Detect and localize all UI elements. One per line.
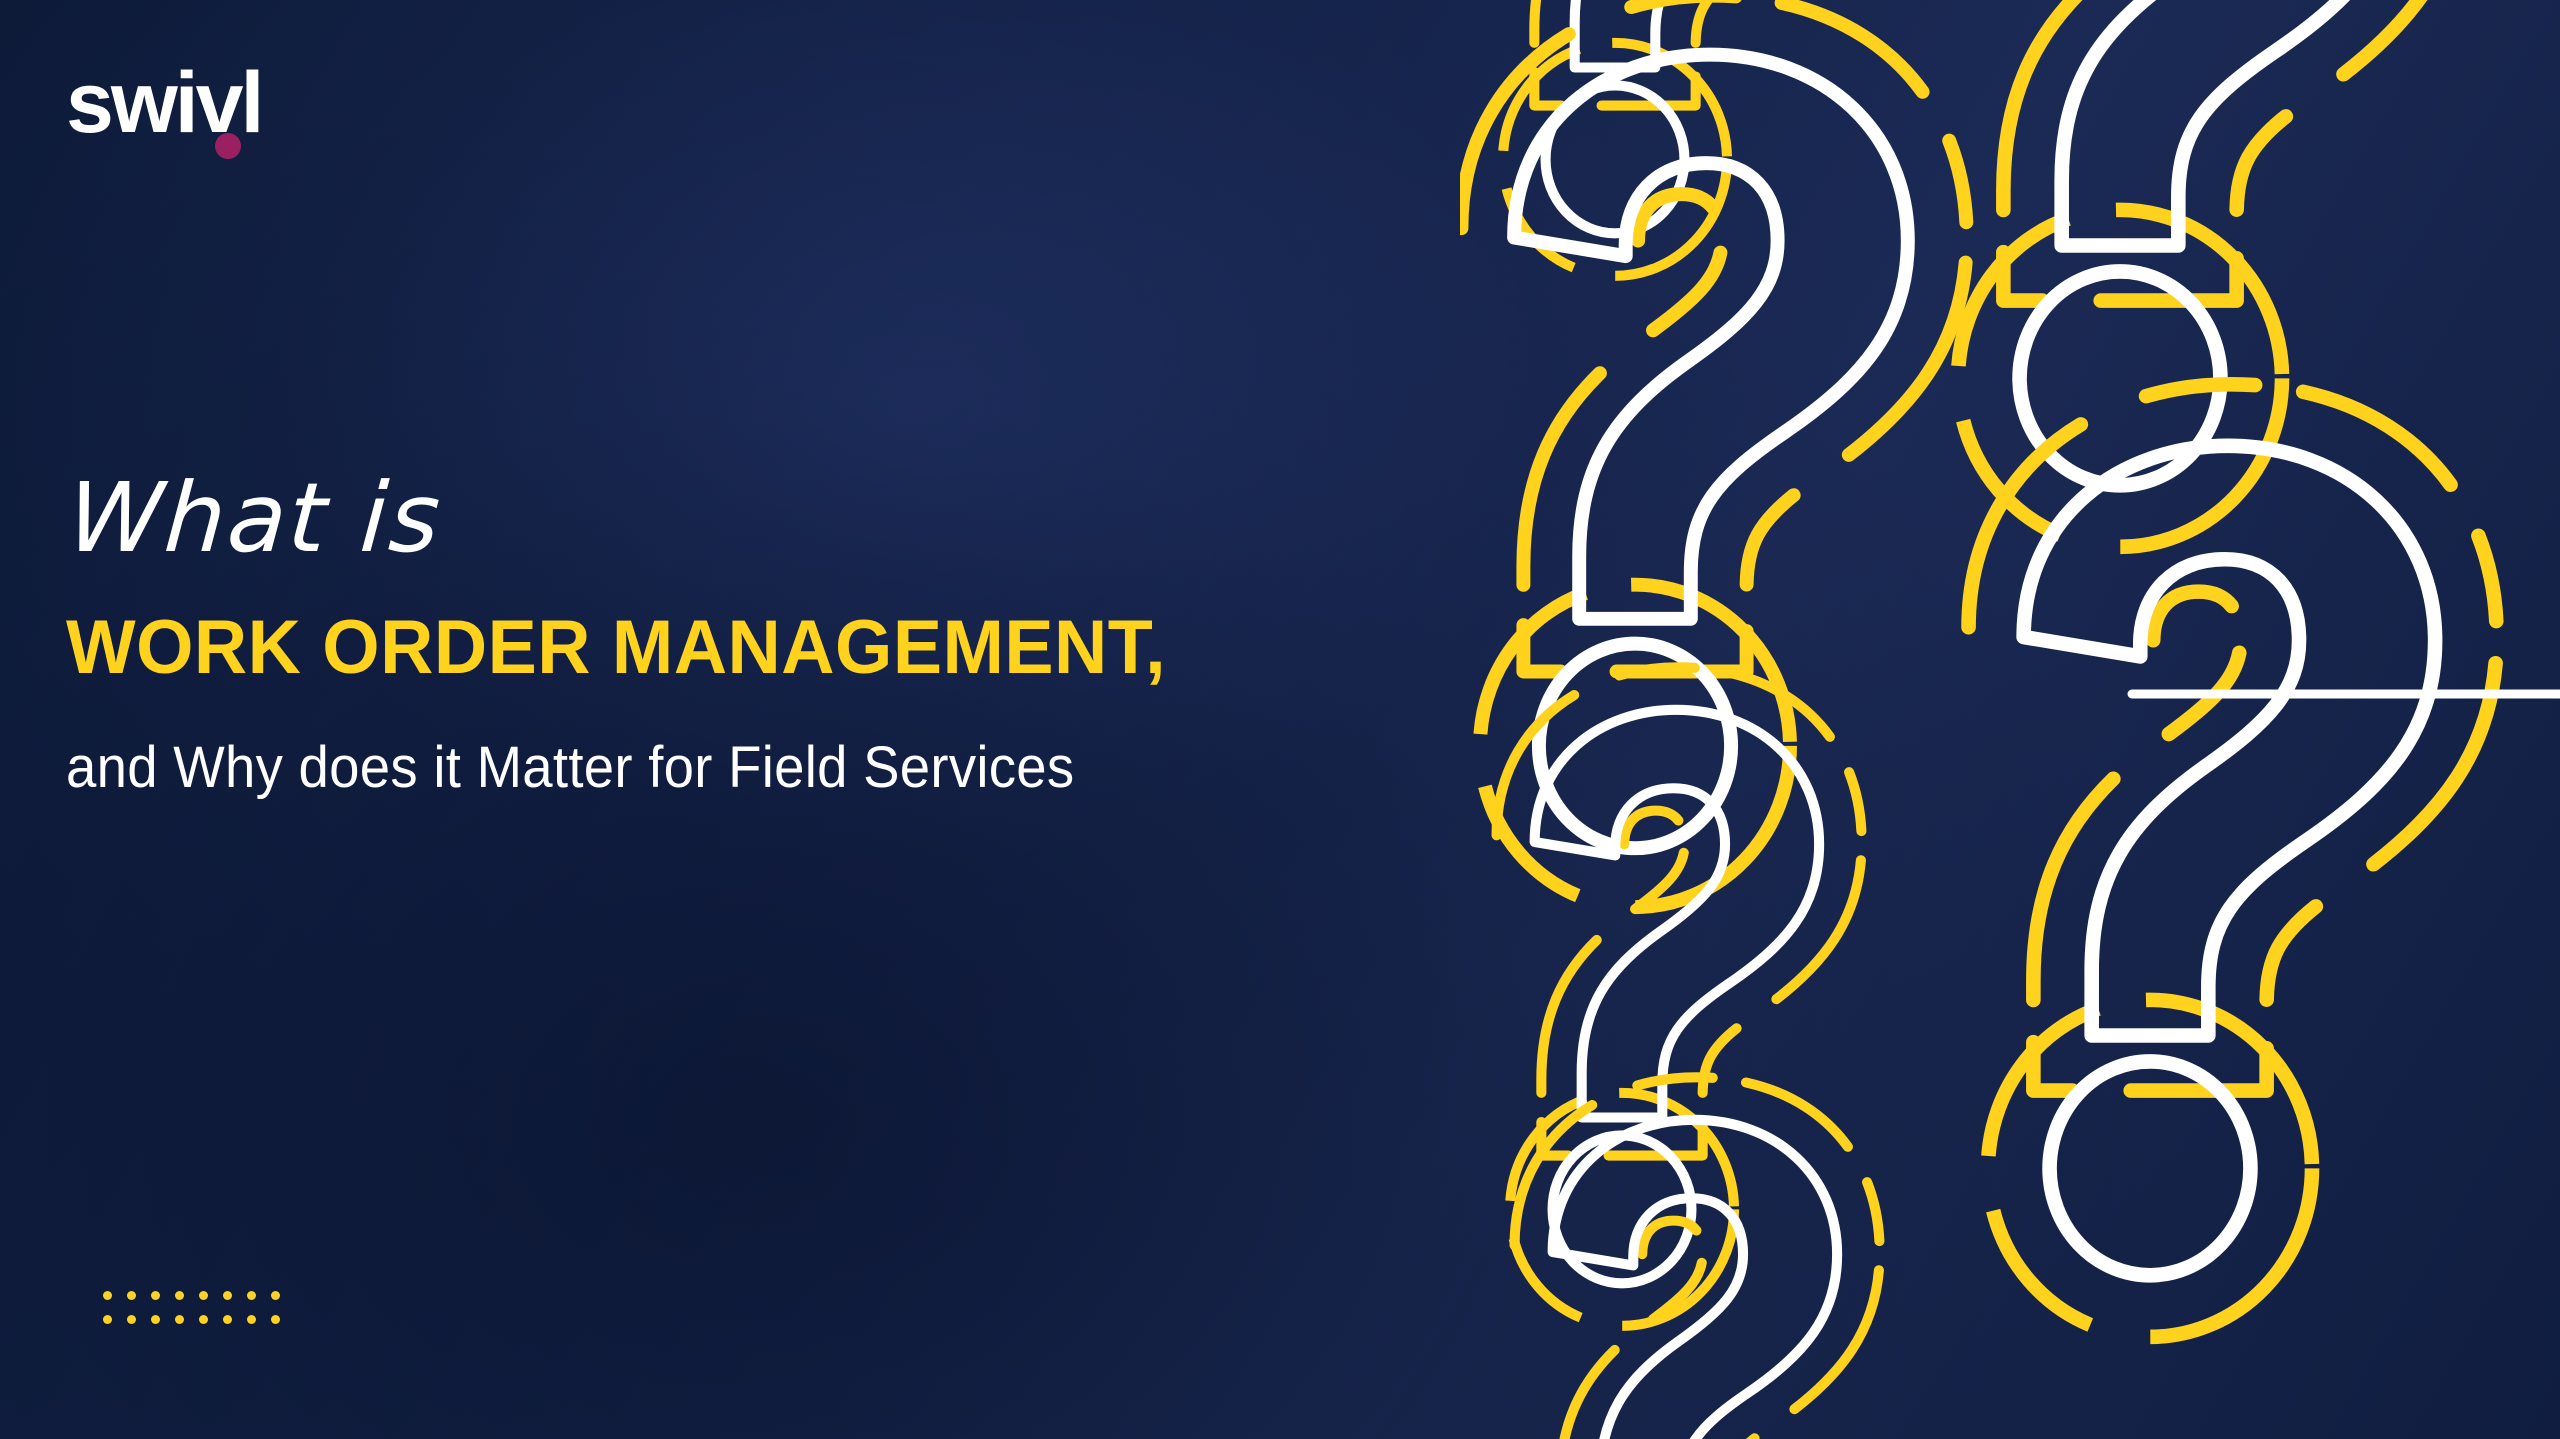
headline-line-what-is: What is [65,470,1250,566]
dot-cell [95,1307,119,1331]
dot-cell [263,1283,287,1307]
dot-cell [191,1307,215,1331]
decorative-dot-grid [95,1283,287,1331]
grid-dot [175,1315,184,1324]
question-mark-pattern [1460,0,2560,1439]
dot-cell [167,1307,191,1331]
dot-cell [167,1283,191,1307]
grid-dot [103,1315,112,1324]
grid-dot [247,1291,256,1300]
headline-block: What is WORK ORDER MANAGEMENT, and Why d… [66,470,1246,799]
grid-dot [223,1315,232,1324]
dot-cell [215,1283,239,1307]
dot-cell [239,1307,263,1331]
grid-dot [199,1315,208,1324]
headline-line-topic: WORK ORDER MANAGEMENT, [66,610,1211,686]
grid-dot [151,1291,160,1300]
grid-dot [223,1291,232,1300]
dot-cell [215,1307,239,1331]
grid-dot [151,1315,160,1324]
grid-dot [127,1315,136,1324]
grid-dot [271,1291,280,1300]
grid-dot [247,1315,256,1324]
dot-cell [143,1307,167,1331]
dot-cell [119,1283,143,1307]
dot-cell [191,1283,215,1307]
dot-cell [263,1307,287,1331]
grid-dot [271,1315,280,1324]
dot-cell [119,1307,143,1331]
dot-cell [95,1283,119,1307]
grid-dot [103,1291,112,1300]
logo-dot-icon [215,133,241,159]
grid-dot [199,1291,208,1300]
swivl-logo[interactable]: swivl [66,58,366,162]
dot-cell [143,1283,167,1307]
grid-dot [175,1291,184,1300]
dot-cell [239,1283,263,1307]
headline-line-subtitle: and Why does it Matter for Field Service… [66,738,1175,799]
grid-dot [127,1291,136,1300]
swivl-wordmark: swivl [66,58,366,162]
slide-canvas: swivl What is WORK ORDER MANAGEMENT, and… [0,0,2560,1439]
